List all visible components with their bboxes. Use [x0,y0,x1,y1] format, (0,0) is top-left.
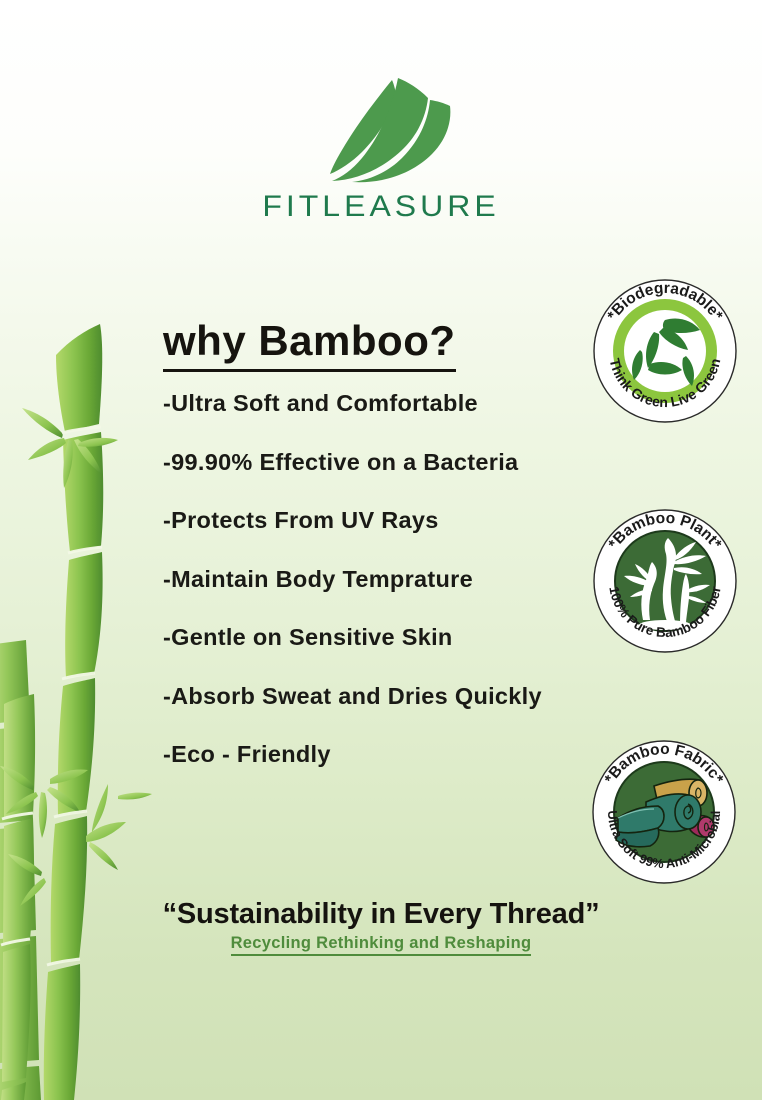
badge-bamboo-plant: *Bamboo Plant* 100% Pure Bamboo Fiber [590,506,740,656]
benefits-list: -Ultra Soft and Comfortable -99.90% Effe… [163,388,643,798]
poster-canvas: FITLEASURE why Bamboo? -Ultra Soft and C… [0,0,762,1100]
list-item: -Ultra Soft and Comfortable [163,388,643,447]
list-item: -Protects From UV Rays [163,505,643,564]
list-item: -Absorb Sweat and Dries Quickly [163,681,643,740]
tagline-subtitle: Recycling Rethinking and Reshaping [231,934,532,956]
brand-name: FITLEASURE [0,189,762,223]
bamboo-leaves [0,408,152,906]
list-item: -Maintain Body Temprature [163,564,643,623]
bamboo-illustration [0,300,175,1100]
brand-logo: FITLEASURE [0,74,762,225]
list-item: -Gentle on Sensitive Skin [163,622,643,681]
list-item: -99.90% Effective on a Bacteria [163,447,643,506]
bamboo-stalk-main [44,324,104,1100]
bamboo-nodes [1,427,102,965]
page-title: why Bamboo? [163,320,456,372]
bamboo-leaf-swoosh-logo-icon [296,74,466,184]
bamboo-stalk-back [0,640,41,1100]
badge-biodegradable: *Biodegradable* Think Green Live Green [590,276,740,426]
list-item: -Eco - Friendly [163,739,643,798]
badge-bamboo-fabric: *Bamboo Fabric* Ultra Soft 99% Anti-Micr… [588,736,740,888]
tagline-quote: “Sustainability in Every Thread” [0,898,762,931]
bamboo-stalk-front [1,694,35,1100]
tagline-block: “Sustainability in Every Thread” Recycli… [0,898,762,956]
